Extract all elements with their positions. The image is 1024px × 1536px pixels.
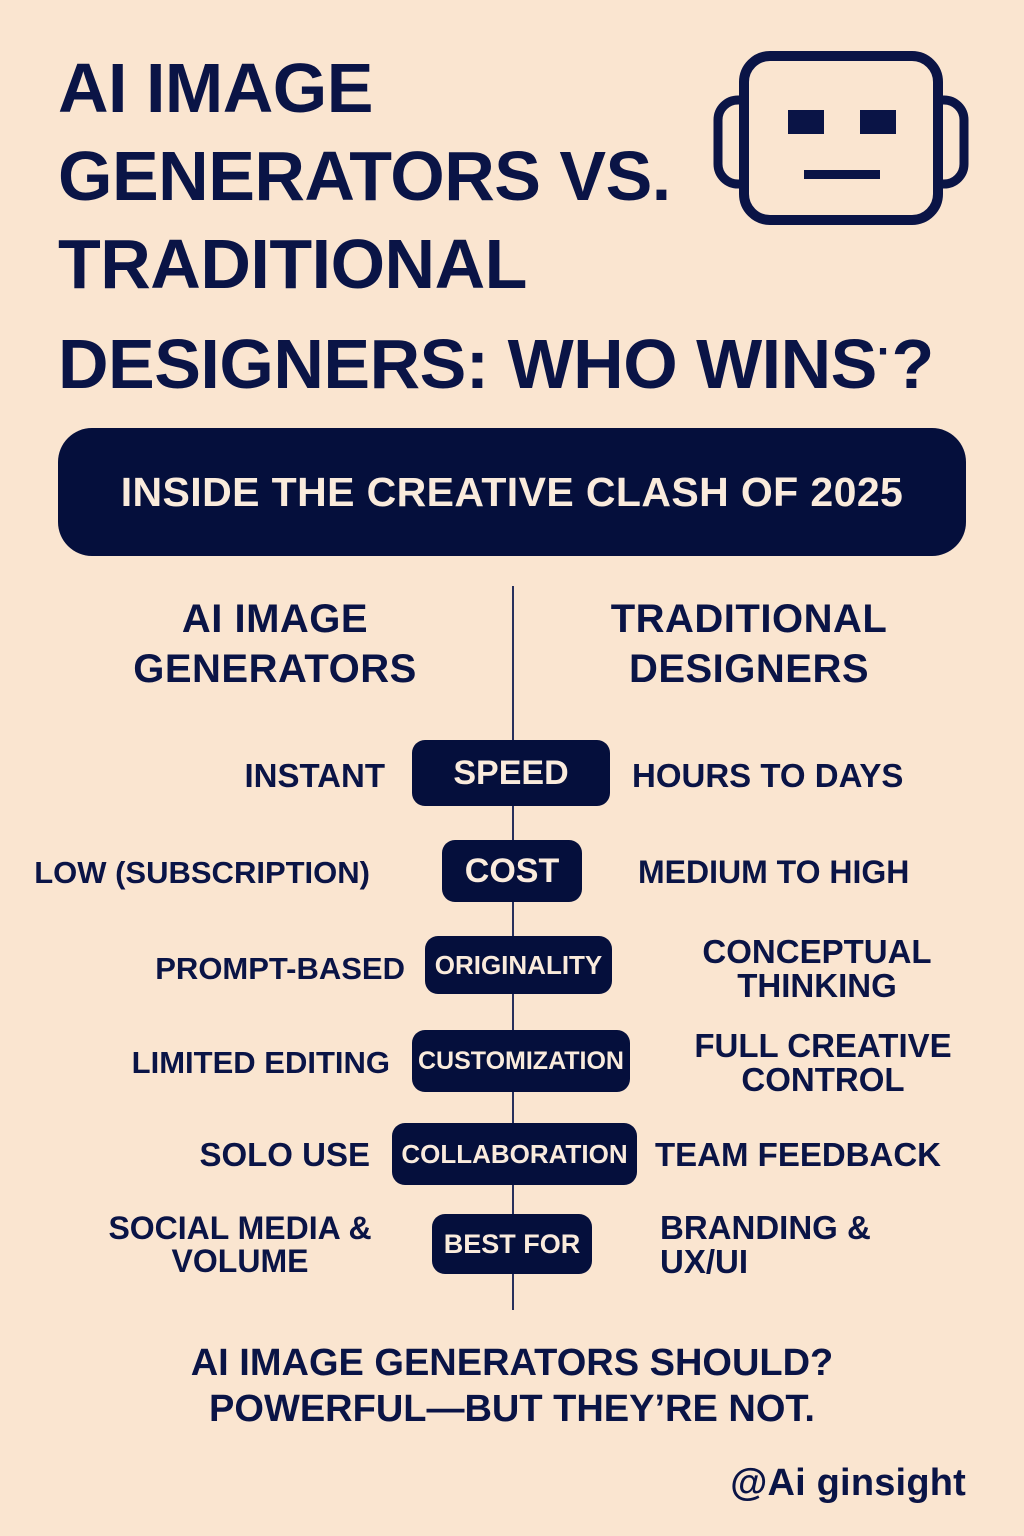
row-bestfor-ai-line2: VOLUME: [172, 1245, 309, 1278]
row-customization-ai-value: LIMITED EDITING: [80, 1020, 400, 1106]
row-cost-ai-value: LOW (SUBSCRIPTION): [0, 837, 380, 909]
column-header-ai-line1: AI IMAGE: [60, 594, 490, 644]
row-originality-designer-value: CONCEPTUAL THINKING: [622, 928, 1002, 1010]
row-category-customization: CUSTOMIZATION: [412, 1030, 630, 1092]
table-row: SOCIAL MEDIA & VOLUME BEST FOR BRANDING …: [0, 1200, 1024, 1290]
row-collaboration-designer-value: TEAM FEEDBACK: [645, 1115, 1005, 1195]
row-bestfor-ai-value: SOCIAL MEDIA & VOLUME: [80, 1200, 410, 1290]
title-line-3: TRADITIONAL: [58, 220, 988, 308]
row-customization-designer-line2: CONTROL: [741, 1063, 904, 1097]
row-originality-designer-line2: THINKING: [737, 969, 897, 1003]
title-line-4-main: DESIGNERS: WHO WINS: [58, 325, 877, 403]
row-category-collaboration: COLLABORATION: [392, 1123, 637, 1185]
column-header-ai-line2: GENERATORS: [60, 644, 490, 694]
row-category-speed: SPEED: [412, 740, 610, 806]
subtitle-label: INSIDE THE CREATIVE CLASH OF 2025: [121, 469, 903, 516]
row-category-best-for: BEST FOR: [432, 1214, 592, 1274]
comparison-table: AI IMAGE GENERATORS TRADITIONAL DESIGNER…: [0, 580, 1024, 1310]
conclusion-line-1: AI IMAGE GENERATORS SHOULD?: [52, 1340, 972, 1386]
table-row: SOLO USE COLLABORATION TEAM FEEDBACK: [0, 1115, 1024, 1195]
row-collaboration-ai-value: SOLO USE: [80, 1115, 380, 1195]
row-speed-ai-value: INSTANT: [0, 740, 395, 812]
table-row: LOW (SUBSCRIPTION) COST MEDIUM to HIGH: [0, 837, 1024, 909]
subtitle-banner: INSIDE THE CREATIVE CLASH OF 2025: [58, 428, 966, 556]
row-cost-designer-value: MEDIUM to HIGH: [628, 837, 1008, 909]
row-category-originality: ORIGINALITY: [425, 936, 612, 994]
table-row: PROMPT-BASED ORIGINALITY CONCEPTUAL THIN…: [0, 928, 1024, 1010]
table-row: LIMITED EDITING CUSTOMIZATION FULL CREAT…: [0, 1020, 1024, 1106]
table-row: INSTANT SPEED HOURS TO DAYS: [0, 740, 1024, 812]
author-handle: @Ai ginsight: [730, 1462, 966, 1505]
robot-face-icon: [712, 48, 970, 228]
title-tick-mark: ·: [877, 327, 892, 376]
row-bestfor-ai-line1: SOCIAL MEDIA &: [108, 1212, 371, 1245]
column-header-traditional-line2: DESIGNERS: [534, 644, 964, 694]
header: AI IMAGE GENERATORS VS. TRADITIONAL DESI…: [0, 0, 1024, 410]
row-category-cost: COST: [442, 840, 582, 902]
column-header-ai: AI IMAGE GENERATORS: [60, 594, 490, 694]
row-bestfor-designer-line2: UX/UI: [660, 1245, 748, 1279]
column-header-traditional-line1: TRADITIONAL: [534, 594, 964, 644]
row-customization-designer-line1: FULL CREATIVE: [694, 1029, 951, 1063]
conclusion-line-2: POWERFUL—BUT THEY’RE NOT.: [52, 1386, 972, 1432]
title-question-mark: ?: [892, 325, 934, 403]
row-customization-designer-value: FULL CREATIVE CONTROL: [638, 1020, 998, 1106]
row-speed-designer-value: HOURS TO DAYS: [622, 740, 1002, 812]
conclusion-text: AI IMAGE GENERATORS SHOULD? POWERFUL—BUT…: [52, 1340, 972, 1432]
row-originality-ai-value: PROMPT-BASED: [95, 928, 415, 1010]
column-headers: AI IMAGE GENERATORS TRADITIONAL DESIGNER…: [0, 594, 1024, 714]
title-line-4: DESIGNERS: WHO WINS·?: [58, 308, 988, 408]
column-header-traditional: TRADITIONAL DESIGNERS: [534, 594, 964, 694]
row-bestfor-designer-value: BRANDING & UX/UI: [650, 1200, 980, 1290]
row-originality-designer-line1: CONCEPTUAL: [702, 935, 931, 969]
row-bestfor-designer-line1: BRANDING &: [660, 1211, 871, 1245]
